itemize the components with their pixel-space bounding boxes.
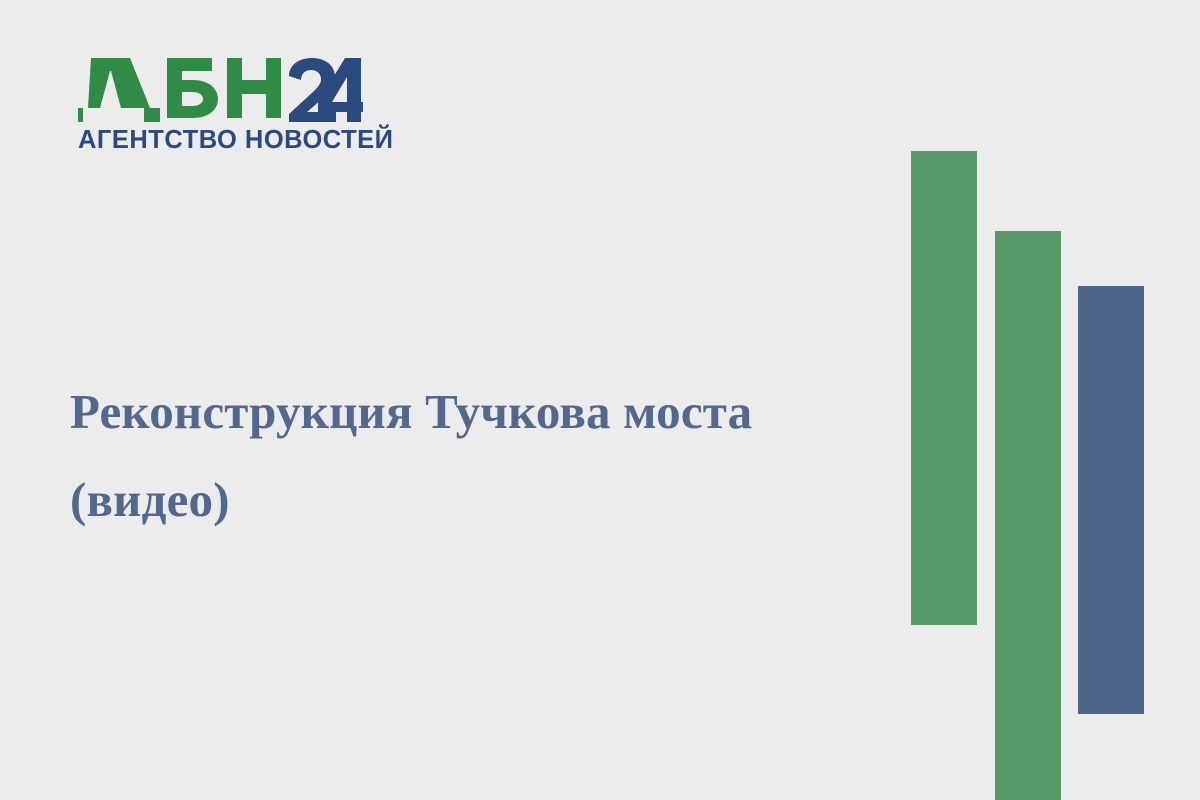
headline-line-2: (видео) bbox=[70, 472, 230, 527]
page-title: Реконструкция Тучкова моста (видео) bbox=[70, 368, 870, 544]
news-card: АГЕНТСТВО НОВОСТЕЙ Реконструкция Тучкова… bbox=[0, 0, 1200, 800]
headline-line-1: Реконструкция Тучкова моста bbox=[70, 384, 752, 439]
abn24-wordmark-icon bbox=[78, 58, 363, 122]
decorative-bar-1 bbox=[911, 151, 977, 625]
logo-tagline: АГЕНТСТВО НОВОСТЕЙ bbox=[78, 128, 378, 154]
decorative-bar-2 bbox=[995, 231, 1061, 800]
decorative-bar-3 bbox=[1078, 286, 1144, 714]
logo-block[interactable]: АГЕНТСТВО НОВОСТЕЙ bbox=[78, 58, 378, 154]
